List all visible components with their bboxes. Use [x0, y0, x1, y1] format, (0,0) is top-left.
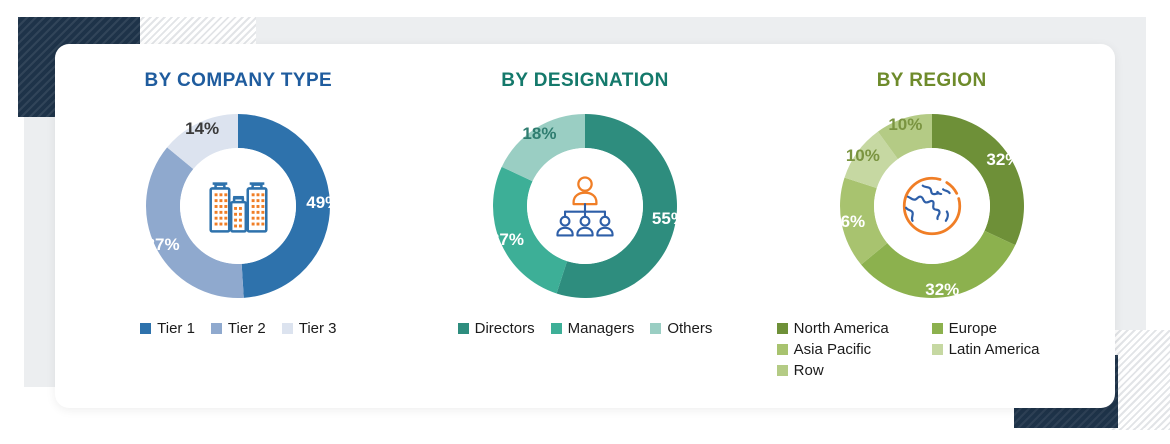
legend-label: Latin America [949, 341, 1040, 358]
legend-item[interactable]: Tier 3 [282, 320, 337, 337]
legend-item[interactable]: Tier 1 [140, 320, 195, 337]
legend-label: Tier 3 [299, 320, 337, 337]
legend-item[interactable]: Europe [932, 320, 1087, 337]
legend-label: Asia Pacific [794, 341, 872, 358]
legend-item[interactable]: Managers [551, 320, 635, 337]
donut-slice-percent: 10% [846, 146, 880, 166]
globe-icon [890, 164, 974, 248]
legend-swatch-icon [932, 344, 943, 355]
donut-designation: 55%27%18% [485, 106, 685, 306]
legend-swatch-icon [551, 323, 562, 334]
chart-title-company-type: BY COMPANY TYPE [145, 70, 333, 92]
donut-company-type: 49%37%14% [138, 106, 338, 306]
legend-item[interactable]: Latin America [932, 341, 1087, 358]
legend-swatch-icon [211, 323, 222, 334]
legend-swatch-icon [777, 323, 788, 334]
chart-title-region: BY REGION [877, 70, 987, 92]
legend-item[interactable]: Asia Pacific [777, 341, 932, 358]
legend-label: Others [667, 320, 712, 337]
donut-slice-percent: 27% [490, 230, 524, 250]
legend-item[interactable]: Tier 2 [211, 320, 266, 337]
org-chart-people-icon [543, 164, 627, 248]
legend-label: Tier 1 [157, 320, 195, 337]
legend-label: Europe [949, 320, 997, 337]
legend-swatch-icon [777, 344, 788, 355]
donut-slice-percent: 32% [986, 150, 1020, 170]
legend-label: Managers [568, 320, 635, 337]
legend-company-type: Tier 1Tier 2Tier 3 [73, 320, 403, 337]
chart-title-designation: BY DESIGNATION [501, 70, 668, 92]
chart-by-designation: BY DESIGNATION [420, 70, 750, 337]
legend-designation: DirectorsManagersOthers [420, 320, 750, 337]
donut-slice-percent: 55% [652, 209, 686, 229]
legend-label: Tier 2 [228, 320, 266, 337]
donut-slice-percent: 14% [185, 119, 219, 139]
donut-region: 32%32%16%10%10% [832, 106, 1032, 306]
infographic-canvas: BY COMPANY TYPE [0, 0, 1170, 444]
donut-slice-percent: 49% [306, 193, 340, 213]
legend-label: North America [794, 320, 889, 337]
donut-slice-percent: 18% [522, 124, 556, 144]
chart-by-company-type: BY COMPANY TYPE [73, 70, 403, 337]
legend-swatch-icon [140, 323, 151, 334]
legend-item[interactable]: Others [650, 320, 712, 337]
donut-slice-percent: 32% [925, 280, 959, 300]
legend-region: North AmericaEuropeAsia PacificLatin Ame… [777, 320, 1087, 379]
legend-swatch-icon [650, 323, 661, 334]
office-buildings-icon [196, 164, 280, 248]
donut-slice-percent: 16% [831, 212, 865, 232]
legend-swatch-icon [777, 365, 788, 376]
legend-label: Row [794, 362, 824, 379]
legend-swatch-icon [282, 323, 293, 334]
legend-swatch-icon [932, 323, 943, 334]
legend-item[interactable]: Directors [458, 320, 535, 337]
legend-label: Directors [475, 320, 535, 337]
charts-row: BY COMPANY TYPE [55, 44, 1115, 408]
legend-item[interactable]: Row [777, 362, 932, 379]
legend-item[interactable]: North America [777, 320, 932, 337]
charts-card: BY COMPANY TYPE [55, 44, 1115, 408]
donut-slice-percent: 10% [888, 115, 922, 135]
legend-swatch-icon [458, 323, 469, 334]
chart-by-region: BY REGION [767, 70, 1097, 379]
donut-slice-percent: 37% [146, 235, 180, 255]
